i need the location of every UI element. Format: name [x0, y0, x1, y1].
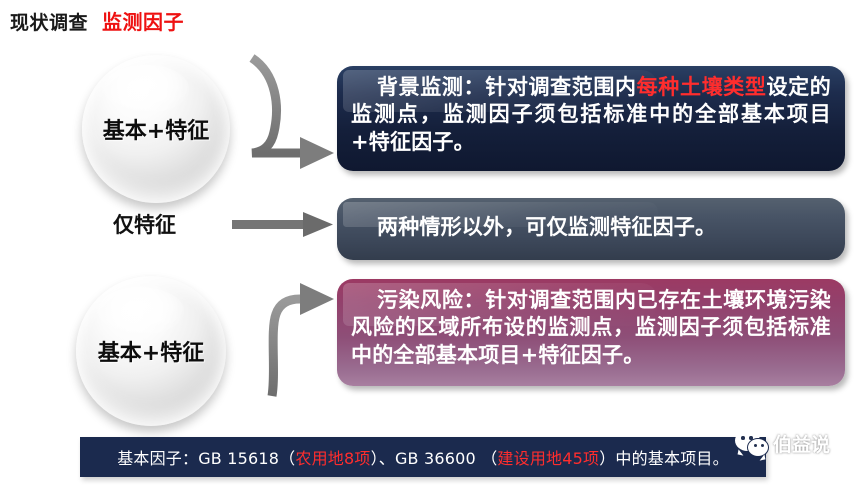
callout-background-monitoring: 背景监测：针对调查范围内每种土壤类型设定的监测点，监测因子须包括标准中的全部基本…: [337, 66, 845, 171]
node-basic-feature-top-label: 基本+特征: [103, 113, 209, 145]
callout-feature-only: 两种情形以外，可仅监测特征因子。: [337, 198, 845, 260]
watermark-label: 伯益说: [773, 430, 830, 457]
callout-pollution-risk: 污染风险：针对调查范围内已存在土壤环境污染风险的区域所布设的监测点，监测因子须包…: [337, 279, 845, 386]
callout-background-highlight: 每种土壤类型: [637, 75, 767, 99]
arrow-curved-up-right-icon: [272, 283, 334, 396]
footer-seg5: ）中的基本项目。: [599, 445, 729, 469]
page-title: 现状调查 监测因子: [10, 6, 184, 35]
node-only-feature-label: 仅特征: [113, 209, 176, 239]
footer-seg3: ）、GB 36600 （: [371, 445, 498, 469]
footer-highlight-construction: 建设用地45项: [497, 445, 599, 469]
node-basic-feature-bottom-label: 基本+特征: [98, 335, 204, 367]
callout-background-seg1: 背景监测：针对调查范围内: [377, 75, 637, 99]
page-title-primary: 现状调查: [10, 8, 88, 35]
node-basic-feature-top: 基本+特征: [82, 55, 230, 203]
footer-note-bar: 基本因子：GB 15618（农用地8项）、GB 36600 （建设用地45项）中…: [80, 437, 766, 477]
page-title-highlight: 监测因子: [102, 6, 184, 35]
node-basic-feature-bottom: 基本+特征: [76, 276, 226, 426]
callout-pollution-risk-text: 污染风险：针对调查范围内已存在土壤环境污染风险的区域所布设的监测点，监测因子须包…: [351, 287, 831, 369]
footer-seg1: 基本因子：GB 15618（: [117, 445, 295, 469]
footer-highlight-farmland: 农用地8项: [295, 445, 370, 469]
wechat-icon: [735, 428, 769, 458]
callout-feature-only-text: 两种情形以外，可仅监测特征因子。: [351, 214, 716, 241]
watermark: 伯益说: [735, 428, 830, 458]
arrow-straight-right-icon: [232, 212, 333, 237]
arrow-curved-down-right-icon: [252, 58, 334, 169]
